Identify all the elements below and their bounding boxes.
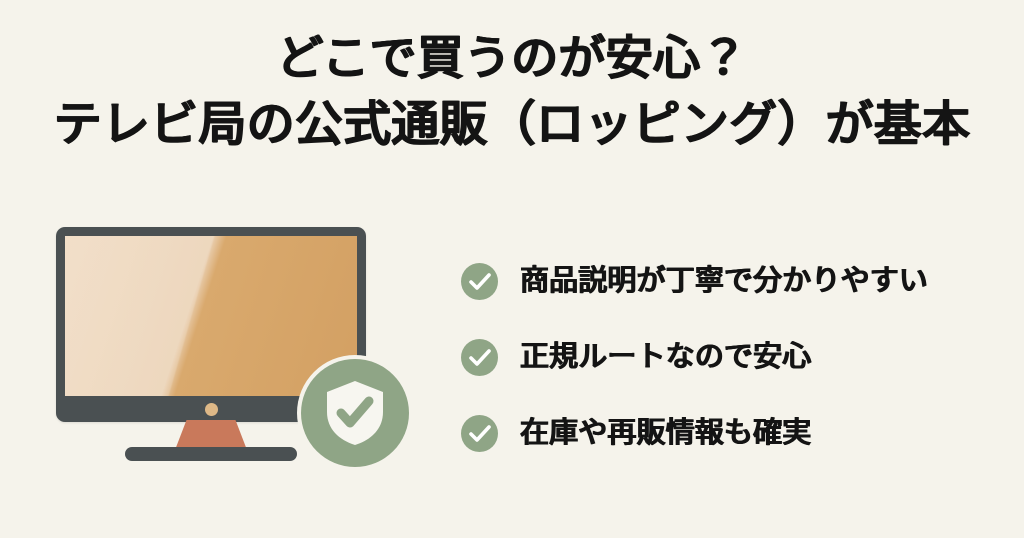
power-indicator-dot — [205, 403, 218, 416]
list-item: 在庫や再販情報も確実 — [461, 410, 1006, 456]
title-line-1: どこで買うのが安心？ — [0, 30, 1024, 86]
check-circle-icon — [461, 339, 498, 376]
list-item-label: 正規ルートなので安心 — [520, 340, 811, 374]
monitor-stand-base — [125, 447, 297, 461]
list-item: 商品説明が丁寧で分かりやすい — [461, 258, 1006, 304]
list-item-label: 商品説明が丁寧で分かりやすい — [520, 264, 928, 298]
monitor-stand-neck — [175, 420, 247, 450]
check-glyph — [469, 425, 491, 442]
page-title: どこで買うのが安心？ テレビ局の公式通販（ロッピング）が基本 — [0, 30, 1024, 154]
slide-canvas: どこで買うのが安心？ テレビ局の公式通販（ロッピング）が基本 商 — [0, 0, 1024, 538]
shield-check-icon — [297, 355, 413, 471]
list-item: 正規ルートなので安心 — [461, 334, 1006, 380]
benefits-list: 商品説明が丁寧で分かりやすい 正規ルートなので安心 在庫や再販情報も確実 — [461, 258, 1006, 456]
check-glyph — [469, 273, 491, 290]
check-circle-icon — [461, 415, 498, 452]
list-item-label: 在庫や再販情報も確実 — [520, 416, 811, 450]
title-line-2: テレビ局の公式通販（ロッピング）が基本 — [0, 96, 1024, 154]
shield-glyph — [324, 379, 386, 447]
check-glyph — [469, 349, 491, 366]
check-circle-icon — [461, 263, 498, 300]
